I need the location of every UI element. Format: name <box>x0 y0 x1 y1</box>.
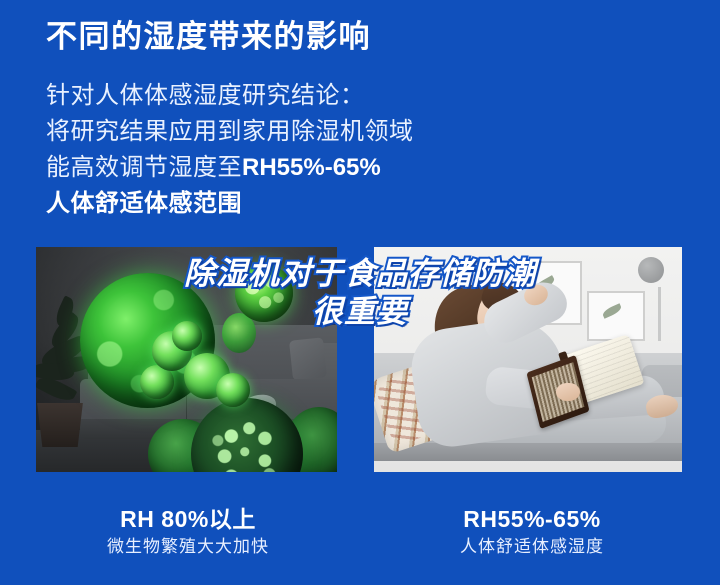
intro-line-2: 将研究结果应用到家用除湿机领域 <box>46 114 414 150</box>
bacteria-cell <box>216 373 250 407</box>
wall-speaker <box>638 257 664 283</box>
wall-trim <box>658 287 661 341</box>
intro-line-1: 针对人体体感湿度研究结论： <box>46 78 414 114</box>
page-title: 不同的湿度带来的影响 <box>46 18 371 55</box>
left-sofa-cushion <box>289 337 327 380</box>
captions-row: RH 80%以上 微生物繁殖大大加快 RH55%-65% 人体舒适体感湿度 <box>0 504 720 574</box>
caption-left-subtitle: 微生物繁殖大大加快 <box>38 534 338 560</box>
caption-right: RH55%-65% 人体舒适体感湿度 <box>382 504 682 560</box>
poster-root: 不同的湿度带来的影响 针对人体体感湿度研究结论： 将研究结果应用到家用除湿机领域… <box>0 0 720 585</box>
intro-line-3: 能高效调节湿度至RH55%-65% <box>46 150 414 186</box>
caption-left-title: RH 80%以上 <box>38 504 338 534</box>
intro-text-block: 针对人体体感湿度研究结论： 将研究结果应用到家用除湿机领域 能高效调节湿度至RH… <box>46 78 414 222</box>
caption-right-title: RH55%-65% <box>382 504 682 534</box>
bacteria-sphere-small <box>235 264 293 322</box>
caption-right-subtitle: 人体舒适体感湿度 <box>382 534 682 560</box>
intro-line-4: 人体舒适体感范围 <box>46 186 414 222</box>
bacteria-sphere-large <box>80 273 215 408</box>
woman-hand-on-book <box>556 383 580 401</box>
photo-panel-left <box>36 247 337 472</box>
caption-left: RH 80%以上 微生物繁殖大大加快 <box>38 504 338 560</box>
bacteria-cell <box>172 321 202 351</box>
intro-line-3-emphasis: RH55%-65% <box>242 154 381 181</box>
photo-panel-right <box>374 247 682 472</box>
wall-picture-frame <box>587 291 645 341</box>
right-sofa-base <box>374 443 682 461</box>
intro-line-3-plain: 能高效调节湿度至 <box>46 154 242 181</box>
